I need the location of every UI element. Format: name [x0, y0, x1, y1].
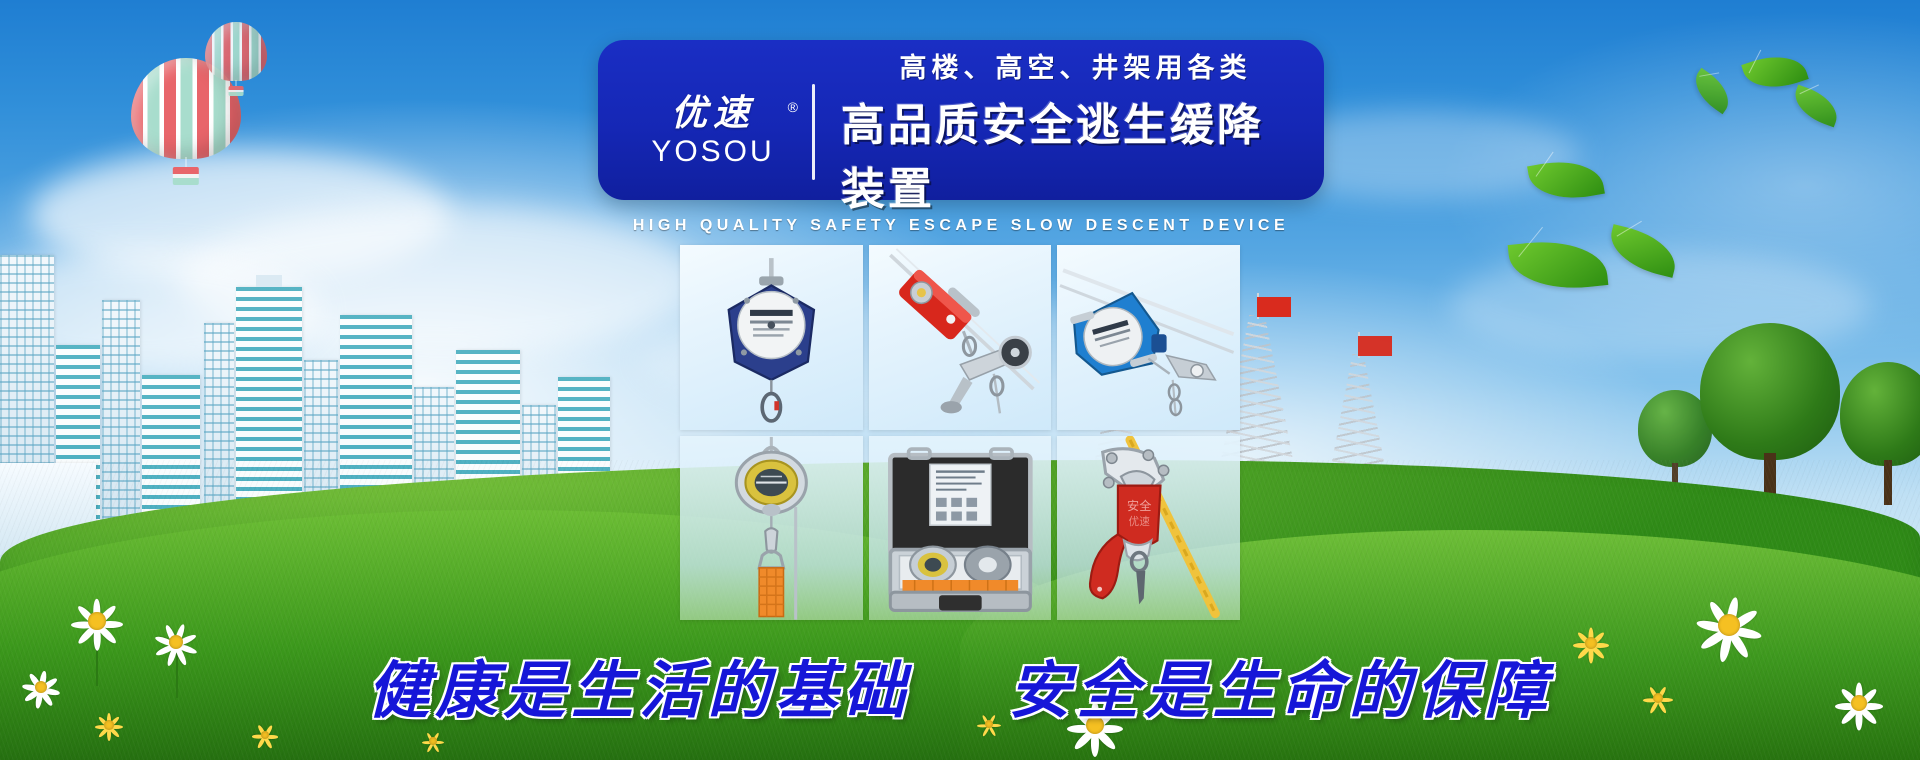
bottom-tagline: 健康是生活的基础 安全是生命的保障 — [0, 640, 1920, 730]
vertical-divider — [812, 84, 815, 180]
oil-derrick-tower — [1330, 354, 1386, 472]
headline-large: 高品质安全逃生缓降装置 — [841, 89, 1310, 217]
svg-text:安全: 安全 — [1127, 497, 1151, 512]
aluminium-case-kit-icon — [869, 436, 1052, 621]
product-cell-red-rope-grab-clamp[interactable]: 安全 优速 — [1057, 436, 1240, 621]
blue-fall-arrester-block-icon — [680, 245, 863, 430]
brand-logo-en: YOSOU — [651, 135, 774, 168]
tagline-part-1: 健康是生活的基础 — [367, 654, 911, 727]
silver-descent-device-with-harness-icon — [680, 436, 863, 621]
subtitle-en: HIGH QUALITY SAFETY ESCAPE SLOW DESCENT … — [598, 217, 1324, 235]
registered-trademark-icon: ® — [788, 99, 798, 115]
product-image-grid: 安全 优速 — [680, 245, 1240, 620]
red-rope-descender-winch-icon — [869, 245, 1052, 430]
brand-logo-cn: 优速 — [671, 95, 755, 133]
brand-logo: 优速 ® YOSOU — [622, 95, 804, 168]
hot-air-balloon-small-icon — [205, 22, 267, 98]
headline-block: 高楼、高空、井架用各类 高品质安全逃生缓降装置 — [841, 46, 1310, 217]
product-cell-blue-rope-descent-device[interactable] — [1057, 245, 1240, 430]
product-cell-red-rope-descender-winch[interactable] — [869, 245, 1052, 430]
red-rope-grab-clamp-icon: 安全 优速 — [1057, 436, 1240, 621]
blue-rope-descent-device-icon — [1057, 245, 1240, 430]
tagline-part-2: 安全是生命的保障 — [1009, 654, 1553, 727]
dandelion-flower — [420, 728, 446, 754]
product-cell-aluminium-case-kit[interactable] — [869, 436, 1052, 621]
headline-small: 高楼、高空、井架用各类 — [900, 46, 1252, 85]
product-cell-silver-descent-device-with-harness[interactable] — [680, 436, 863, 621]
banner-stage: 安全 优速 优速 ® YOSOU 高楼、高空、井架用各类 高品质安全逃生缓降装置 — [0, 0, 1920, 760]
brand-header-panel: 优速 ® YOSOU 高楼、高空、井架用各类 高品质安全逃生缓降装置 HIGH … — [598, 40, 1324, 200]
svg-text:优速: 优速 — [1129, 515, 1151, 528]
product-cell-blue-fall-arrester-block[interactable] — [680, 245, 863, 430]
brand-header-top-row: 优速 ® YOSOU 高楼、高空、井架用各类 高品质安全逃生缓降装置 — [598, 40, 1324, 217]
